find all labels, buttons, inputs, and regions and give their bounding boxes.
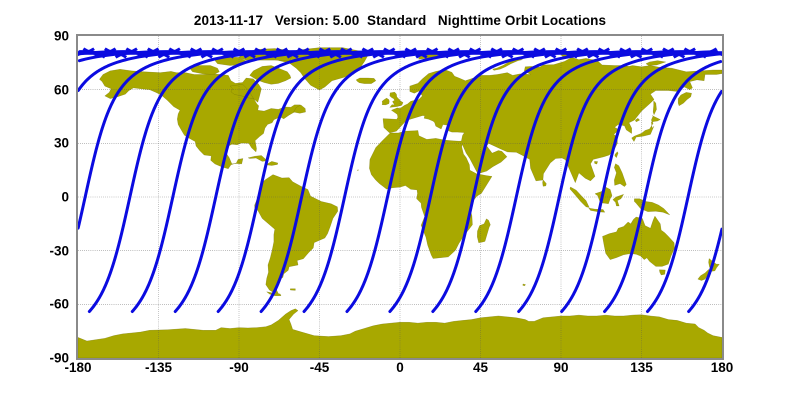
landmass-new-guinea xyxy=(634,199,669,215)
x-tick--45: -45 xyxy=(310,360,330,375)
y-tick-label: 90 xyxy=(54,29,78,44)
orbit-map-figure: 2013-11-17 Version: 5.00 Standard Nightt… xyxy=(0,0,800,400)
x-tick-0: 0 xyxy=(396,360,404,375)
map-canvas xyxy=(78,36,722,358)
x-tick--90: -90 xyxy=(229,360,249,375)
y-tick-label: 60 xyxy=(54,82,78,97)
y-tick--60: -60 xyxy=(49,297,78,312)
y-tick-label: 30 xyxy=(54,136,78,151)
landmass-taiwan xyxy=(615,152,618,158)
landmass-ireland xyxy=(382,98,389,105)
landmass-sri-lanka xyxy=(543,180,547,186)
landmass-falkland xyxy=(290,289,295,291)
landmass-honshu-sea xyxy=(635,118,639,122)
y-tick-60: 60 xyxy=(54,82,78,97)
landmass-antarctica xyxy=(78,309,722,358)
y-tick-30: 30 xyxy=(54,136,78,151)
landmass-java xyxy=(589,208,605,212)
plot-area xyxy=(78,36,722,358)
x-tick-90: 90 xyxy=(553,360,568,375)
x-tick--135: -135 xyxy=(145,360,172,375)
y-tick-label: -30 xyxy=(49,243,78,258)
landmass-iceland xyxy=(356,78,376,84)
y-tick-90: 90 xyxy=(54,29,78,44)
landmass-kamchatka-extra xyxy=(678,92,691,105)
world-map-svg xyxy=(78,36,722,358)
landmass-cape-verde-a xyxy=(357,170,358,171)
landmass-hispaniola xyxy=(267,161,278,165)
x-tick-180: 180 xyxy=(711,360,734,375)
landmass-philippines xyxy=(614,164,626,187)
landmass-hainan xyxy=(594,161,597,164)
landmass-sulawesi xyxy=(613,194,624,206)
y-tick-label: -60 xyxy=(49,297,78,312)
landmass-britain xyxy=(390,92,403,107)
figure-title: 2013-11-17 Version: 5.00 Standard Nightt… xyxy=(0,13,800,28)
landmass-kerguelen xyxy=(523,284,526,286)
y-tick-label: 0 xyxy=(61,190,78,205)
landmass-sakhalin xyxy=(653,101,656,115)
x-tick-45: 45 xyxy=(473,360,488,375)
landmass-cuba xyxy=(248,155,267,161)
polar-convergence-core xyxy=(78,51,722,55)
landmass-new-siberian xyxy=(646,61,666,66)
y-tick-0: 0 xyxy=(61,190,78,205)
y-tick--30: -30 xyxy=(49,243,78,258)
landmass-madagascar xyxy=(477,219,490,243)
landmass-tasmania xyxy=(659,270,665,275)
orbit-track-14-wrap xyxy=(647,91,721,311)
orbit-track-0-wrap xyxy=(689,229,722,311)
x-tick-135: 135 xyxy=(630,360,653,375)
x-tick--180: -180 xyxy=(64,360,91,375)
